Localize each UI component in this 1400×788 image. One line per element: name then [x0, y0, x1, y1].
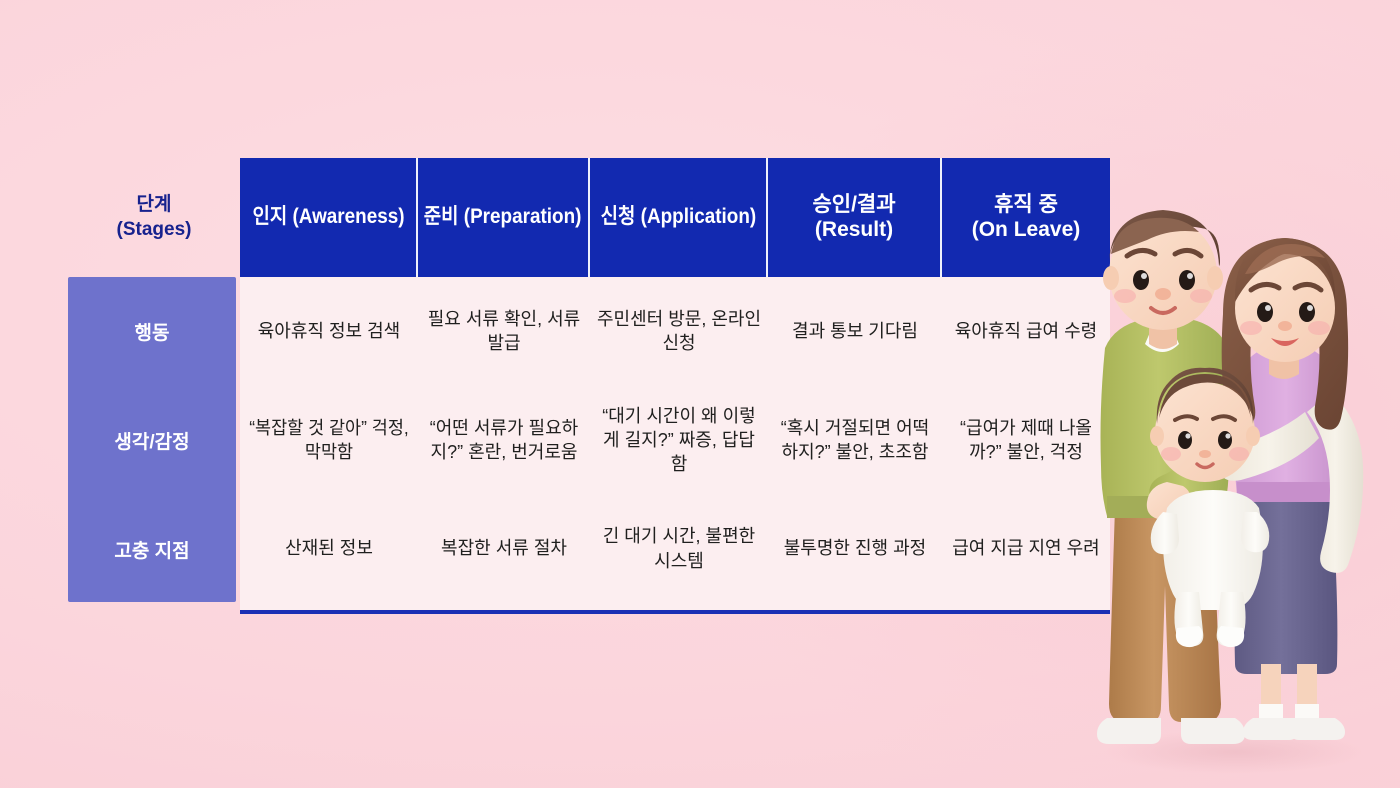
row-label-pain-points[interactable]: 고충 지점 — [68, 495, 236, 603]
row-label-thoughts-feelings[interactable]: 생각/감정 — [68, 386, 236, 494]
table-corner-label: 단계 (Stages) — [68, 158, 240, 277]
cell-text: 복잡한 서류 절차 — [441, 536, 567, 560]
table-header-row: 인지 (Awareness) 준비 (Preparation) 신청 (Appl… — [240, 158, 1110, 277]
mother-eye-left — [1257, 302, 1273, 322]
cell-actions-on-leave[interactable]: 육아휴직 급여 수령 — [942, 277, 1110, 385]
father-ear-left — [1103, 266, 1119, 290]
column-header-result-kr: 승인/결과 — [812, 193, 895, 216]
baby-eye-left — [1178, 431, 1192, 449]
mother-eye-right — [1299, 302, 1315, 322]
mother-shoe-right — [1291, 718, 1345, 740]
cell-actions-preparation[interactable]: 필요 서류 확인, 서류 발급 — [418, 277, 590, 385]
cell-pain-awareness[interactable]: 산재된 정보 — [240, 495, 418, 602]
cell-pain-application[interactable]: 긴 대기 시간, 불편한 시스템 — [590, 495, 768, 602]
table-row: 육아휴직 정보 검색 필요 서류 확인, 서류 발급 주민센터 방문, 온라인 … — [240, 277, 1110, 385]
column-header-awareness-label: 인지 (Awareness) — [252, 205, 404, 230]
cell-thoughts-awareness[interactable]: “복잡할 것 같아” 걱정, 막막함 — [240, 386, 418, 494]
cell-actions-result[interactable]: 결과 통보 기다림 — [768, 277, 942, 385]
corner-line-1: 단계 — [137, 193, 172, 218]
cell-actions-awareness[interactable]: 육아휴직 정보 검색 — [240, 277, 418, 385]
column-header-on-leave[interactable]: 휴직 중 (On Leave) — [942, 158, 1110, 277]
cell-pain-result[interactable]: 불투명한 진행 과정 — [768, 495, 942, 602]
cell-text: “혹시 거절되면 어떡하지?” 불안, 초조함 — [774, 416, 936, 465]
father-ear-right — [1207, 266, 1223, 290]
column-header-preparation-label: 준비 (Preparation) — [424, 205, 582, 230]
family-illustration — [1095, 196, 1400, 788]
cell-text: 필요 서류 확인, 서류 발급 — [424, 307, 584, 356]
father-eye-right — [1179, 270, 1195, 290]
mother-sock-right — [1295, 704, 1319, 720]
father-shoe-right — [1181, 718, 1245, 744]
column-header-result-label: 승인/결과 (Result) — [812, 193, 895, 243]
mother-top-hem — [1237, 482, 1336, 502]
cell-text: “급여가 제때 나올까?” 불안, 걱정 — [948, 416, 1104, 465]
cell-thoughts-on-leave[interactable]: “급여가 제때 나올까?” 불안, 걱정 — [942, 386, 1110, 494]
table-body: 행동 생각/감정 고충 지점 육아휴직 정보 검색 필요 서류 확인, 서류 발… — [68, 277, 1110, 610]
column-header-on-leave-kr: 휴직 중 — [994, 193, 1058, 216]
mother-figure — [1219, 238, 1363, 740]
cell-text: “어떤 서류가 필요하지?” 혼란, 번거로움 — [424, 416, 584, 465]
father-nose — [1155, 288, 1171, 300]
baby-ear-left — [1150, 426, 1164, 446]
cell-thoughts-result[interactable]: “혹시 거절되면 어떡하지?” 불안, 초조함 — [768, 386, 942, 494]
column-header-application-label: 신청 (Application) — [600, 205, 756, 230]
father-cheek-left — [1114, 289, 1136, 303]
row-label-column: 행동 생각/감정 고충 지점 — [68, 277, 236, 602]
father-eye-left — [1133, 270, 1149, 290]
mother-shoe-left — [1243, 718, 1297, 740]
cell-actions-application[interactable]: 주민센터 방문, 온라인 신청 — [590, 277, 768, 385]
column-header-on-leave-en: (On Leave) — [972, 218, 1081, 243]
row-label-actions[interactable]: 행동 — [68, 277, 236, 385]
table-cell-grid: 육아휴직 정보 검색 필요 서류 확인, 서류 발급 주민센터 방문, 온라인 … — [240, 277, 1110, 610]
baby-cheek-left — [1161, 447, 1181, 461]
cell-thoughts-preparation[interactable]: “어떤 서류가 필요하지?” 혼란, 번거로움 — [418, 386, 590, 494]
cell-text: 주민센터 방문, 온라인 신청 — [596, 307, 762, 356]
customer-journey-table: 단계 (Stages) 인지 (Awareness) 준비 (Preparati… — [68, 158, 1110, 610]
corner-line-2: (Stages) — [117, 218, 192, 243]
cell-text: 육아휴직 정보 검색 — [258, 319, 400, 343]
cell-thoughts-application[interactable]: “대기 시간이 왜 이렇게 길지?” 짜증, 답답함 — [590, 386, 768, 494]
baby-nose — [1199, 450, 1211, 458]
cell-pain-on-leave[interactable]: 급여 지급 지연 우려 — [942, 495, 1110, 602]
baby-ear-right — [1246, 426, 1260, 446]
cell-text: 불투명한 진행 과정 — [784, 536, 926, 560]
column-header-on-leave-label: 휴직 중 (On Leave) — [972, 193, 1081, 243]
father-shoe-left — [1097, 718, 1161, 744]
baby-eye-right — [1218, 431, 1232, 449]
cell-text: 긴 대기 시간, 불편한 시스템 — [596, 524, 762, 573]
mother-nose — [1278, 321, 1292, 331]
mother-cheek-right — [1308, 321, 1330, 335]
column-header-preparation[interactable]: 준비 (Preparation) — [418, 158, 590, 277]
cell-text: “복잡할 것 같아” 걱정, 막막함 — [248, 416, 409, 465]
cell-text: 급여 지급 지연 우려 — [952, 536, 1099, 560]
father-cheek-right — [1190, 289, 1212, 303]
table-row: 산재된 정보 복잡한 서류 절차 긴 대기 시간, 불편한 시스템 불투명한 진… — [240, 495, 1110, 602]
cell-text: 육아휴직 급여 수령 — [955, 319, 1097, 343]
table-row: “복잡할 것 같아” 걱정, 막막함 “어떤 서류가 필요하지?” 혼란, 번거… — [240, 386, 1110, 494]
mother-cheek-left — [1240, 321, 1262, 335]
cell-text: 산재된 정보 — [285, 536, 373, 560]
cell-text: 결과 통보 기다림 — [792, 319, 918, 343]
cell-text: “대기 시간이 왜 이렇게 길지?” 짜증, 답답함 — [596, 404, 762, 477]
cell-pain-preparation[interactable]: 복잡한 서류 절차 — [418, 495, 590, 602]
mother-sock-left — [1259, 704, 1283, 720]
column-header-awareness[interactable]: 인지 (Awareness) — [240, 158, 418, 277]
baby-cheek-right — [1229, 447, 1249, 461]
column-header-result[interactable]: 승인/결과 (Result) — [768, 158, 942, 277]
column-header-result-en: (Result) — [812, 218, 895, 243]
column-header-application[interactable]: 신청 (Application) — [590, 158, 768, 277]
